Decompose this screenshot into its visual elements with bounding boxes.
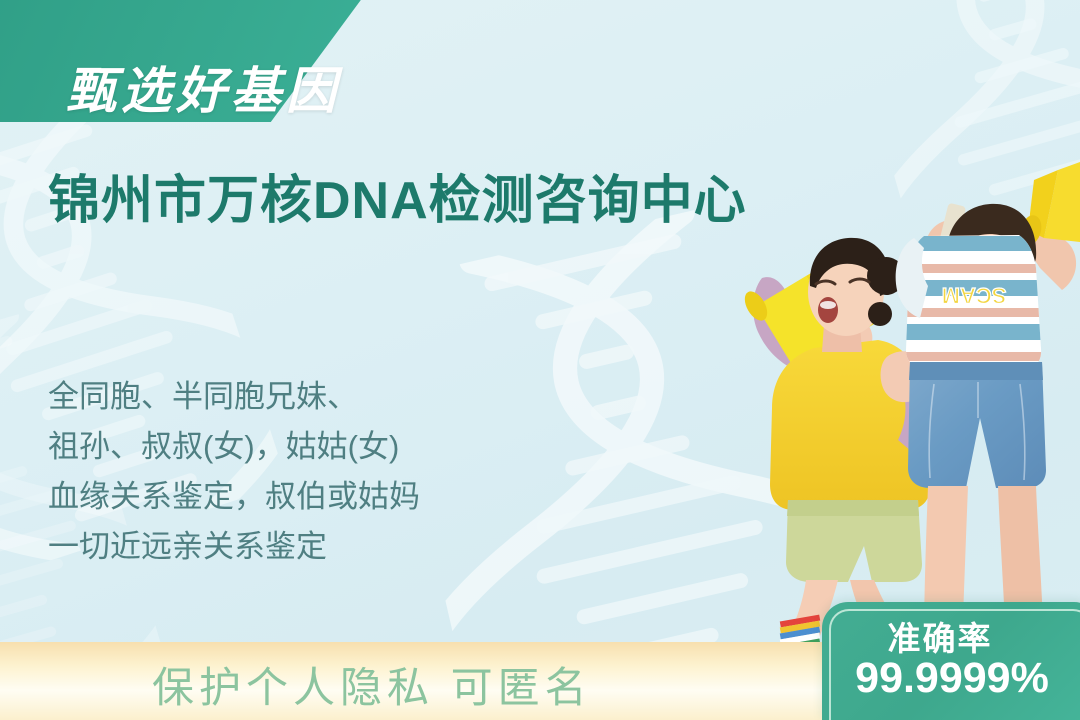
description-line: 血缘关系鉴定，叔伯或姑妈 [48,472,420,522]
accuracy-label: 准确率 [822,612,1058,660]
description-line: 全同胞、半同胞兄妹、 [48,372,420,422]
woman-shorts-waistband [787,500,919,516]
woman-teeth [820,301,836,309]
brand-tab-content: 甄选好基因 [40,26,380,148]
promotional-banner: 甄选好基因 锦州市万核DNA检测咨询中心 全同胞、半同胞兄妹、 祖孙、叔叔(女)… [0,0,1080,720]
privacy-text: 保护个人隐私 可匿名 [152,654,592,715]
page-title: 锦州市万核DNA检测咨询中心 [48,158,747,233]
woman-mouth [818,297,838,323]
description-line: 祖孙、叔叔(女)，姑姑(女) [48,422,420,472]
woman-hair-bun [868,302,892,326]
brand-slogan: 甄选好基因 [40,51,341,123]
shirt-print: SCAM [942,283,1007,308]
man-shorts-waistband [909,362,1043,380]
accuracy-value: 99.9999% [822,654,1080,703]
description-line: 一切近远亲关系鉴定 [48,522,420,572]
accuracy-badge: 准确率 99.9999% [822,602,1080,720]
service-description: 全同胞、半同胞兄妹、 祖孙、叔叔(女)，姑姑(女) 血缘关系鉴定，叔伯或姑妈 一… [48,372,420,572]
people-photo: SCAM [728,118,1080,646]
